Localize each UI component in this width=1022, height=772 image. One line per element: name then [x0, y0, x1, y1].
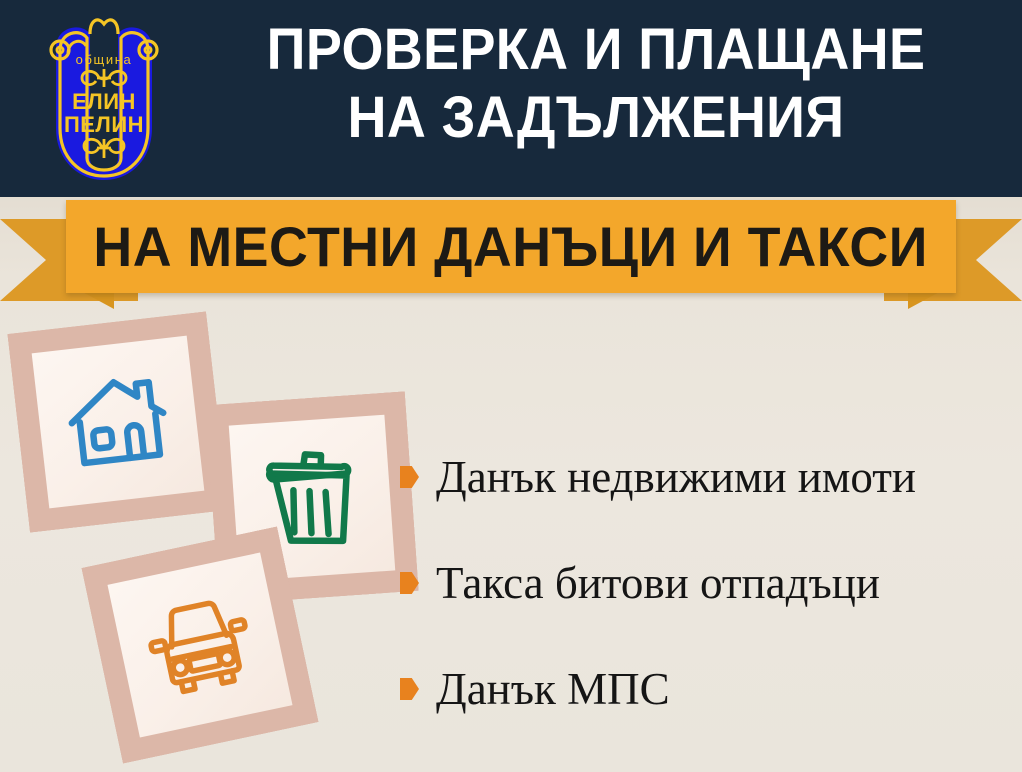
list-item-label: Данък недвижими имоти: [436, 455, 916, 500]
list-item-label: Такса битови отпадъци: [436, 561, 880, 606]
list-item[interactable]: Данък МПС: [400, 636, 1012, 742]
svg-text:община: община: [76, 52, 133, 67]
arrow-bullet-icon: [400, 466, 419, 488]
ribbon-banner: НА МЕСТНИ ДАНЪЦИ И ТАКСИ: [0, 197, 1022, 309]
list-item-label: Данък МПС: [436, 667, 670, 712]
svg-text:ПЕЛИН: ПЕЛИН: [64, 112, 144, 137]
header-bar: община ЕЛИН ПЕЛИН ПРОВЕРКА И ПЛАЩАНЕ НА …: [0, 0, 1022, 197]
list-item[interactable]: Данък недвижими имоти: [400, 424, 1012, 530]
stamp-card-car: [81, 526, 318, 763]
ribbon-band: НА МЕСТНИ ДАНЪЦИ И ТАКСИ: [66, 200, 956, 293]
stamp-inner-house: [32, 336, 205, 509]
page-title-line-1: ПРОВЕРКА И ПЛАЩАНЕ: [215, 16, 978, 84]
stamp-inner-car: [107, 552, 292, 737]
arrow-bullet-icon: [400, 572, 419, 594]
page-title: ПРОВЕРКА И ПЛАЩАНЕ НА ЗАДЪЛЖЕНИЯ: [215, 16, 978, 152]
list-item[interactable]: Такса битови отпадъци: [400, 530, 1012, 636]
car-front-icon: [137, 587, 263, 703]
ribbon-subtitle: НА МЕСТНИ ДАНЪЦИ И ТАКСИ: [94, 214, 928, 279]
poster-canvas: община ЕЛИН ПЕЛИН ПРОВЕРКА И ПЛАЩАНЕ НА …: [0, 0, 1022, 772]
coat-of-arms-shield-icon: община ЕЛИН ПЕЛИН: [34, 8, 174, 186]
stamp-card-house: [7, 311, 228, 532]
tax-list: Данък недвижими имоти Такса битови отпад…: [400, 424, 1012, 742]
page-title-line-2: НА ЗАДЪЛЖЕНИЯ: [215, 84, 978, 152]
svg-text:ЕЛИН: ЕЛИН: [72, 89, 136, 114]
arrow-bullet-icon: [400, 678, 419, 700]
house-icon: [61, 368, 175, 475]
